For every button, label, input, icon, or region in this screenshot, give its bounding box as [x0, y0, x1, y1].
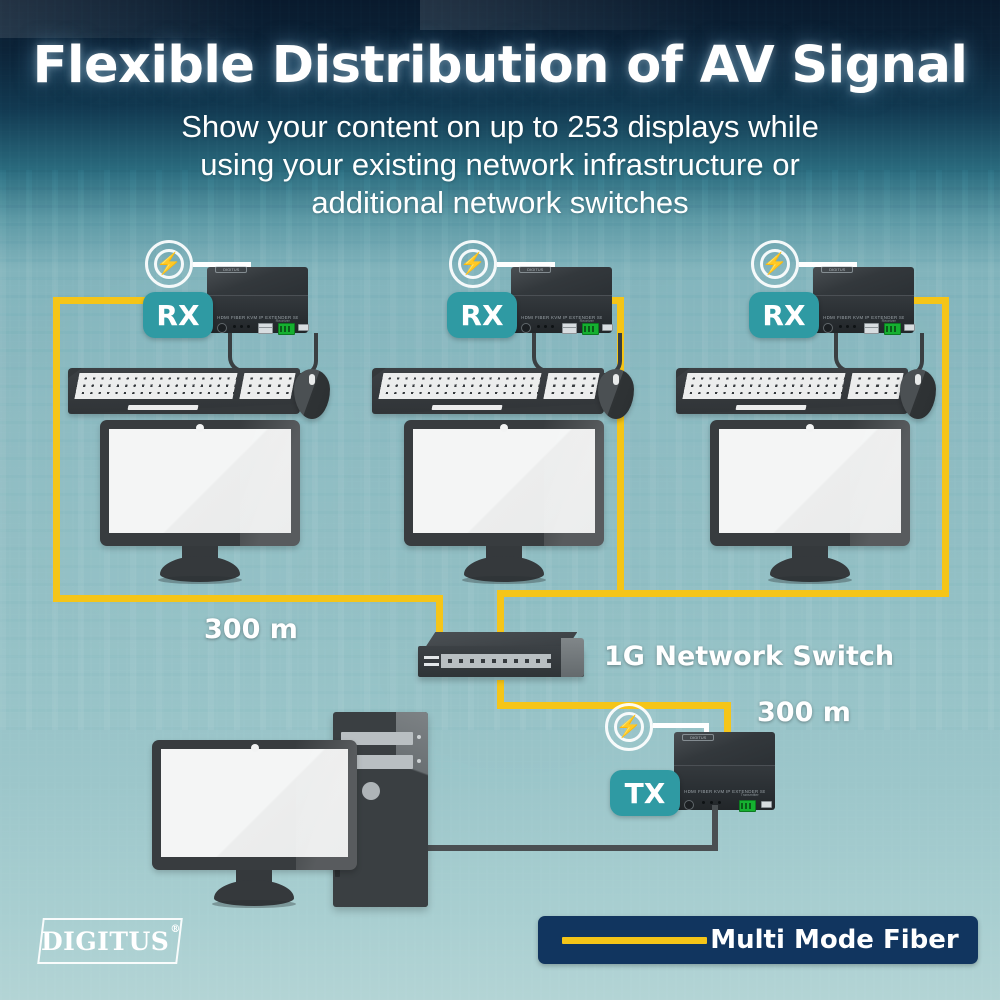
- poe-inner-ring: ⚡: [458, 249, 488, 279]
- poe-power-icon: ⚡: [145, 240, 193, 288]
- lightning-bolt-icon: ⚡: [460, 254, 486, 275]
- poe-power-icon: ⚡: [449, 240, 497, 288]
- status-led: [240, 325, 243, 328]
- poe-connector-line-tx: [653, 723, 709, 728]
- legend-bar: Multi Mode Fiber: [538, 916, 978, 964]
- keyboard-spacebar: [736, 405, 807, 410]
- mouse-wheel: [915, 374, 921, 385]
- keyboard-spacebar: [432, 405, 503, 410]
- status-led: [537, 325, 540, 328]
- rx-badge-label: RX: [460, 299, 503, 332]
- monitor-2[interactable]: [404, 420, 604, 546]
- reset-button[interactable]: [684, 800, 694, 810]
- keyboard-keys: [379, 373, 542, 399]
- source-cable-vertical: [712, 805, 718, 850]
- infographic-canvas: Flexible Distribution of AV Signal Show …: [0, 0, 1000, 1000]
- status-led: [544, 325, 547, 328]
- rx-badge-label: RX: [156, 299, 199, 332]
- fiber-path-left-bottom: [53, 595, 443, 602]
- webcam-icon: [251, 744, 259, 752]
- network-switch-label: 1G Network Switch: [604, 641, 894, 672]
- keyboard-keys: [75, 373, 238, 399]
- network-switch[interactable]: [418, 632, 584, 680]
- keyboard-3[interactable]: [676, 368, 908, 414]
- monitor-stand-shadow-1: [158, 576, 242, 584]
- keyboard-2[interactable]: [372, 368, 604, 414]
- device-brand-plate: DIGITUS: [821, 266, 853, 273]
- status-led: [846, 325, 849, 328]
- keyboard-numpad-keys: [544, 373, 600, 399]
- monitor-1[interactable]: [100, 420, 300, 546]
- device-role-text: Transmitter: [730, 793, 770, 797]
- monitor-screen: [161, 749, 348, 857]
- switch-ports: [441, 654, 551, 668]
- device-front-face: DIGITUS HDMI FIBER KVM IP EXTENDER SET, …: [511, 295, 612, 333]
- usb-port-side[interactable]: [602, 324, 613, 331]
- mouse-wheel: [613, 374, 619, 385]
- status-led: [839, 325, 842, 328]
- keyboard-1[interactable]: [68, 368, 300, 414]
- rx-badge-2: RX: [447, 292, 517, 338]
- status-led: [702, 801, 705, 804]
- registered-trademark-icon: ®: [170, 923, 181, 934]
- lightning-bolt-icon: ⚡: [762, 254, 788, 275]
- poe-inner-ring: ⚡: [614, 712, 644, 742]
- status-led: [551, 325, 554, 328]
- mouse-2[interactable]: [598, 369, 634, 419]
- rx-badge-1: RX: [143, 292, 213, 338]
- reset-button[interactable]: [823, 323, 833, 333]
- monitor-stand-shadow-3: [768, 576, 852, 584]
- distance-label-left: 300 m: [204, 614, 298, 645]
- rx-extender-device-2[interactable]: DIGITUS HDMI FIBER KVM IP EXTENDER SET, …: [511, 267, 612, 333]
- subtitle-line-1: Show your content on up to 253 displays …: [100, 108, 900, 146]
- page-title: Flexible Distribution of AV Signal: [0, 38, 1000, 94]
- logo-wordmark: DIGITUS: [41, 927, 169, 956]
- poe-power-icon-tx: ⚡: [605, 703, 653, 751]
- keyboard-numpad-keys: [240, 373, 296, 399]
- lightning-bolt-icon: ⚡: [156, 254, 182, 275]
- mouse-3[interactable]: [900, 369, 936, 419]
- device-front-face: DIGITUS HDMI FIBER KVM IP EXTENDER SET, …: [674, 765, 775, 810]
- monitor-stand-shadow-2: [462, 576, 546, 584]
- device-brand-plate: DIGITUS: [519, 266, 551, 273]
- tx-extender-device[interactable]: DIGITUS HDMI FIBER KVM IP EXTENDER SET, …: [674, 732, 775, 810]
- fiber-path-right-vertical: [942, 297, 949, 597]
- tower-bay-led: [417, 759, 421, 763]
- rx-extender-device-1[interactable]: DIGITUS HDMI FIBER KVM IP EXTENDER SET, …: [207, 267, 308, 333]
- device-front-face: DIGITUS HDMI FIBER KVM IP EXTENDER SET, …: [207, 295, 308, 333]
- status-led: [853, 325, 856, 328]
- reset-button[interactable]: [217, 323, 227, 333]
- tower-power-button[interactable]: [362, 782, 380, 800]
- usb-port-side[interactable]: [298, 324, 309, 331]
- mouse-1[interactable]: [294, 369, 330, 419]
- rx-badge-3: RX: [749, 292, 819, 338]
- monitor-screen: [719, 429, 901, 534]
- tx-badge-label: TX: [625, 777, 666, 810]
- device-brand-plate: DIGITUS: [682, 734, 714, 742]
- fiber-path-right-bottom: [575, 590, 949, 597]
- digitus-logo: DIGITUS®: [37, 918, 183, 964]
- terminal-block[interactable]: [739, 800, 756, 812]
- legend-label: Multi Mode Fiber: [707, 925, 978, 955]
- switch-side-panel: [561, 638, 584, 677]
- keyboard-spacebar: [128, 405, 199, 410]
- status-led: [233, 325, 236, 328]
- fiber-color-swatch: [562, 937, 707, 944]
- keyboard-keys: [683, 373, 846, 399]
- switch-indicator-lines: [424, 654, 439, 666]
- poe-inner-ring: ⚡: [760, 249, 790, 279]
- distance-label-right: 300 m: [757, 697, 851, 728]
- device-brand-plate: DIGITUS: [215, 266, 247, 273]
- page-subtitle: Show your content on up to 253 displays …: [100, 108, 900, 222]
- rx-extender-device-3[interactable]: DIGITUS HDMI FIBER KVM IP EXTENDER SET, …: [813, 267, 914, 333]
- rx-badge-label: RX: [762, 299, 805, 332]
- source-cable-horizontal: [428, 845, 718, 851]
- fiber-path-left-vertical: [53, 297, 60, 602]
- webcam-icon: [806, 424, 814, 432]
- monitor-3[interactable]: [710, 420, 910, 546]
- usb-port[interactable]: [761, 801, 772, 808]
- monitor-screen: [413, 429, 595, 534]
- webcam-icon: [500, 424, 508, 432]
- webcam-icon: [196, 424, 204, 432]
- mouse-wheel: [309, 374, 315, 385]
- background-streak: [420, 0, 720, 30]
- poe-power-icon: ⚡: [751, 240, 799, 288]
- keyboard-numpad-keys: [848, 373, 904, 399]
- status-led: [710, 801, 713, 804]
- lightning-bolt-icon: ⚡: [616, 717, 642, 738]
- background-streak: [0, 0, 260, 38]
- monitor-screen: [109, 429, 291, 534]
- status-led: [718, 801, 721, 804]
- device-front-face: DIGITUS HDMI FIBER KVM IP EXTENDER SET, …: [813, 295, 914, 333]
- subtitle-line-2: using your existing network infrastructu…: [100, 146, 900, 184]
- status-led: [247, 325, 250, 328]
- poe-inner-ring: ⚡: [154, 249, 184, 279]
- reset-button[interactable]: [521, 323, 531, 333]
- tx-badge: TX: [610, 770, 680, 816]
- subtitle-line-3: additional network switches: [100, 184, 900, 222]
- source-monitor-shadow: [212, 900, 296, 908]
- logo-text: DIGITUS®: [41, 927, 180, 956]
- usb-port-side[interactable]: [904, 324, 915, 331]
- source-monitor[interactable]: [152, 740, 357, 870]
